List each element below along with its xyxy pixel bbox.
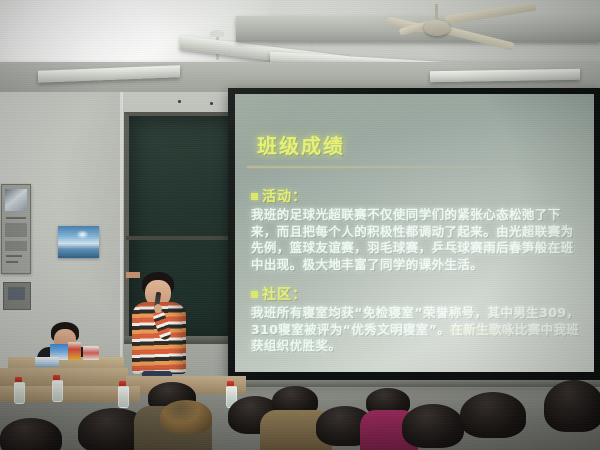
presentation-slide: 班级成绩 活动： 我班的足球光超联赛不仅使同学们的紧张心态松弛了下来，而且把每个… bbox=[235, 94, 594, 372]
notice-text-block bbox=[5, 223, 27, 237]
presenter-hand bbox=[154, 304, 162, 313]
bullet-label: 社区： bbox=[262, 284, 307, 304]
audience-head bbox=[0, 418, 62, 450]
plaque-inner bbox=[8, 287, 25, 300]
slide-title-rule bbox=[247, 166, 547, 168]
projection-screen: 班级成绩 活动： 我班的足球光超联赛不仅使同学们的紧张心态松弛了下来，而且把每个… bbox=[228, 88, 600, 380]
audience-head bbox=[544, 380, 600, 432]
notice-text-line bbox=[6, 261, 18, 263]
square-bullet-icon bbox=[251, 291, 258, 298]
presenter-neck bbox=[126, 272, 140, 278]
wall-plaque bbox=[3, 282, 31, 310]
bullet-label: 活动： bbox=[262, 186, 307, 206]
bullet-heading: 活动： bbox=[251, 186, 583, 206]
product-box bbox=[35, 357, 59, 367]
audience-head bbox=[460, 392, 526, 438]
bottle-body bbox=[14, 382, 25, 404]
blackboard-clip bbox=[178, 100, 181, 103]
notice-photo bbox=[5, 189, 27, 211]
blackboard-clip bbox=[210, 102, 213, 105]
notice-text-line bbox=[6, 255, 22, 257]
ceiling-fan-hub bbox=[424, 20, 450, 36]
light-mount bbox=[210, 30, 224, 37]
product-box bbox=[68, 342, 81, 360]
slide-bullet-community: 社区： 我班所有寝室均获“免检寝室”荣誉称号，其中男生309，310寝室被评为“… bbox=[251, 284, 583, 355]
notice-text-line bbox=[6, 217, 26, 219]
square-bullet-icon bbox=[251, 193, 258, 200]
bottle-body bbox=[52, 380, 63, 402]
wall-corner bbox=[120, 92, 123, 392]
classroom-photo: 班级成绩 活动： 我班的足球光超联赛不仅使同学们的紧张心态松弛了下来，而且把每个… bbox=[0, 0, 600, 450]
audience-head bbox=[160, 400, 212, 434]
slide-light-streak bbox=[450, 329, 580, 332]
student-presenter bbox=[126, 272, 192, 390]
slide-title: 班级成绩 bbox=[257, 130, 345, 159]
notice-board bbox=[1, 184, 31, 274]
bullet-text: 我班的足球光超联赛不仅使同学们的紧张心态松弛了下来，而且把每个人的积极性都调动了… bbox=[251, 207, 583, 273]
slide-bullet-activities: 活动： 我班的足球光超联赛不仅使同学们的紧张心态松弛了下来，而且把每个人的积极性… bbox=[251, 186, 583, 273]
landscape-poster bbox=[58, 226, 99, 258]
product-box bbox=[83, 346, 99, 360]
poster-sun bbox=[76, 230, 89, 239]
audience-head bbox=[402, 404, 464, 448]
notice-text-block bbox=[5, 241, 27, 251]
bottle-body bbox=[118, 386, 129, 408]
bullet-heading: 社区： bbox=[251, 284, 583, 304]
